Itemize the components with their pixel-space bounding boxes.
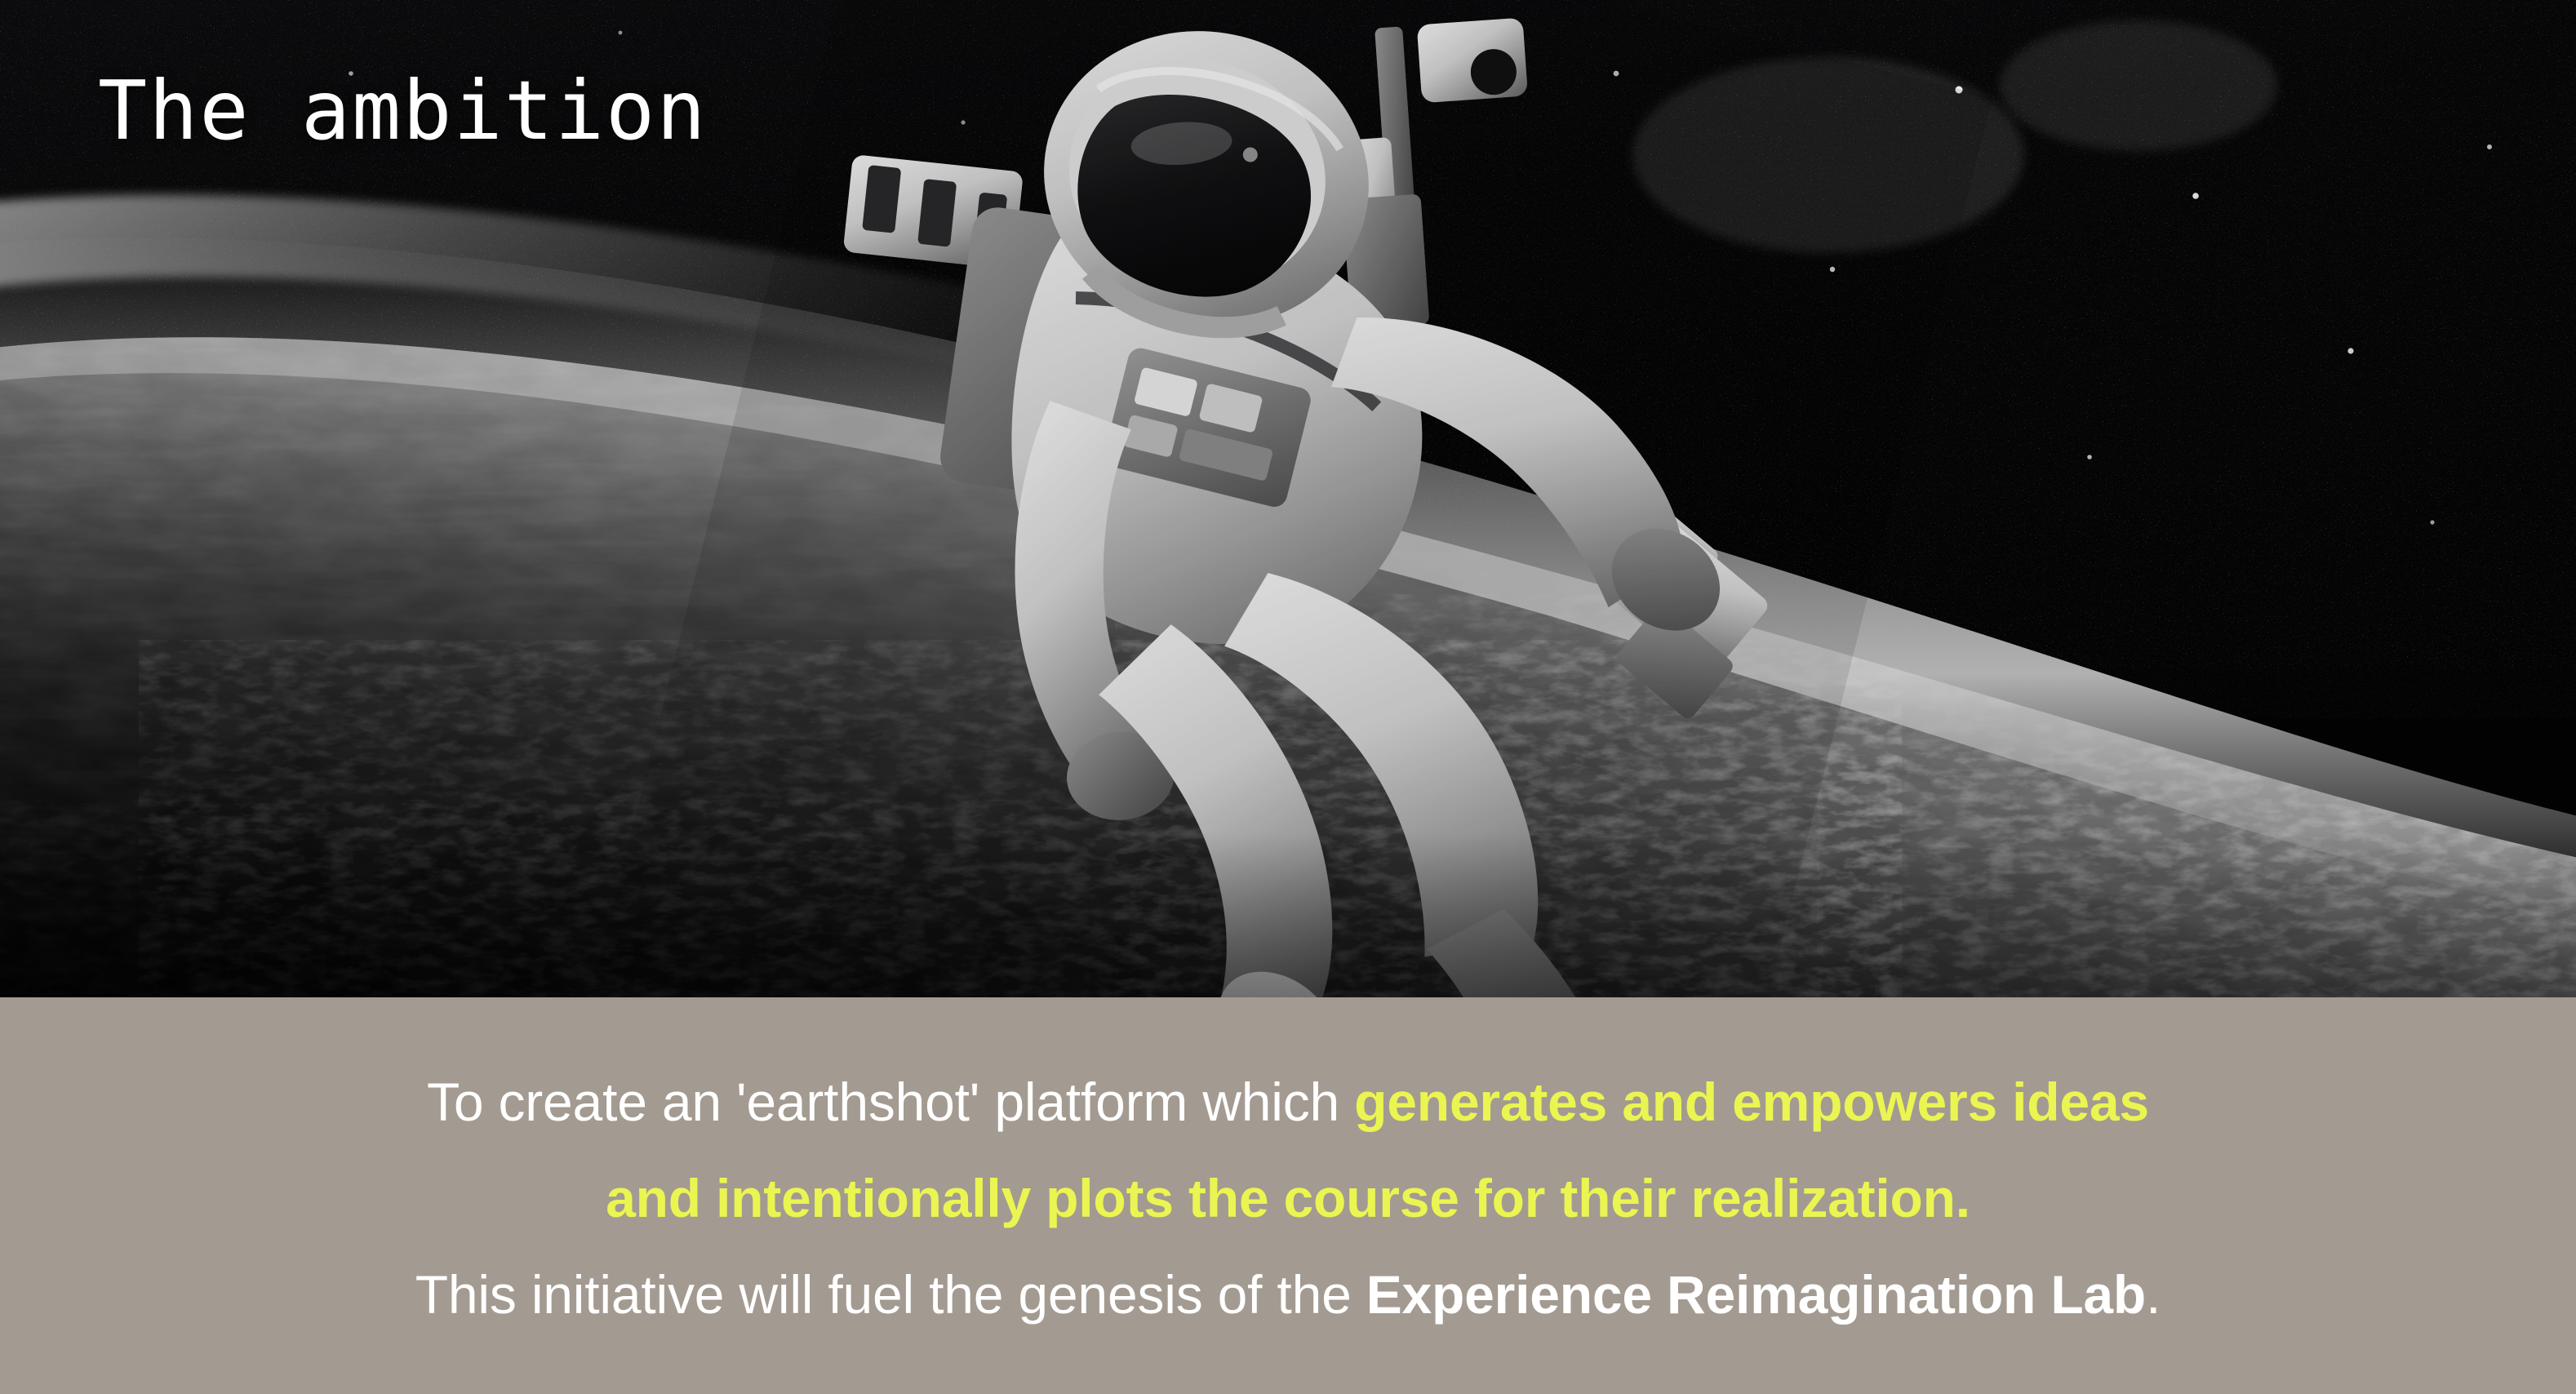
caption-panel: To create an 'earthshot' platform which … <box>0 997 2576 1394</box>
caption-line3-plain-end: . <box>2146 1264 2161 1325</box>
caption-line-1: To create an 'earthshot' platform which … <box>0 1054 2576 1150</box>
caption-line-3: This initiative will fuel the genesis of… <box>0 1246 2576 1343</box>
hero-photo-astronaut-above-earth: The ambition <box>0 0 2576 997</box>
slide-root: The ambition To create an 'earthshot' pl… <box>0 0 2576 1394</box>
page-title: The ambition <box>98 70 707 152</box>
caption-line3-strong: Experience Reimagination Lab <box>1366 1264 2146 1325</box>
caption-line2-highlight: and intentionally plots the course for t… <box>606 1168 1970 1228</box>
caption-line1-plain: To create an 'earthshot' platform which <box>427 1072 1354 1132</box>
caption-line-2: and intentionally plots the course for t… <box>0 1150 2576 1246</box>
caption-line1-highlight: generates and empowers ideas <box>1354 1072 2149 1132</box>
caption-line3-plain: This initiative will fuel the genesis of… <box>415 1264 1366 1325</box>
